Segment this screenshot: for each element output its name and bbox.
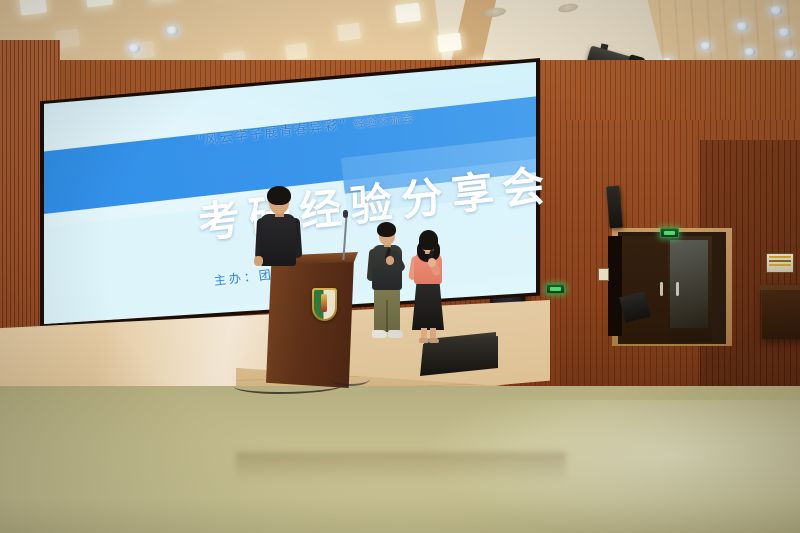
microphone-head-icon (343, 210, 348, 218)
ceiling-downlight (784, 50, 795, 58)
audio-cable (330, 372, 370, 386)
torso (260, 214, 296, 266)
school-crest-emblem (312, 288, 337, 321)
trouser-seam (386, 300, 388, 332)
hair (267, 186, 291, 205)
hair (377, 222, 396, 237)
hand (428, 258, 436, 267)
notice-board[interactable] (766, 253, 794, 273)
auditorium-photo: “风云学子展青春异彩” 经验交流会 考研经验分享会 主办：团总支学生会 (0, 0, 800, 533)
ceiling-downlight (778, 28, 790, 37)
ceiling-downlight (128, 44, 140, 53)
ceiling-downlight (770, 6, 782, 15)
skirt (412, 282, 444, 330)
light-switch[interactable] (598, 268, 609, 281)
hand (386, 256, 394, 265)
door-handle-icon[interactable] (676, 282, 679, 296)
stage-floor-shadow (236, 452, 566, 482)
exit-sign-above-doors (660, 228, 679, 238)
hand (254, 256, 263, 266)
wall-cabinet (762, 285, 800, 339)
ceiling-downlight (166, 26, 178, 35)
door-side-opening (608, 236, 622, 336)
shoe (429, 338, 439, 343)
notice-line (769, 264, 791, 266)
notice-line (769, 256, 791, 258)
exit-sign-glyph (664, 231, 674, 234)
notice-line (769, 260, 791, 262)
hair (419, 230, 438, 250)
crest-device (321, 294, 327, 312)
shoe (372, 330, 387, 338)
ceiling-panel-light (395, 3, 421, 24)
ceiling-downlight (744, 48, 755, 56)
shoe (419, 338, 429, 343)
podium (266, 258, 354, 388)
cabinet-top (758, 285, 800, 290)
ceiling-panel-light (437, 33, 462, 53)
ceiling-panel-light (285, 43, 308, 60)
door-handle-icon[interactable] (660, 282, 663, 296)
shoe (388, 330, 403, 338)
exit-sign-glyph (550, 287, 560, 290)
ceiling-downlight (700, 42, 711, 50)
exit-sign-left-wall (546, 284, 565, 294)
ceiling-downlight (736, 22, 748, 31)
ceiling-panel-light (337, 23, 361, 42)
